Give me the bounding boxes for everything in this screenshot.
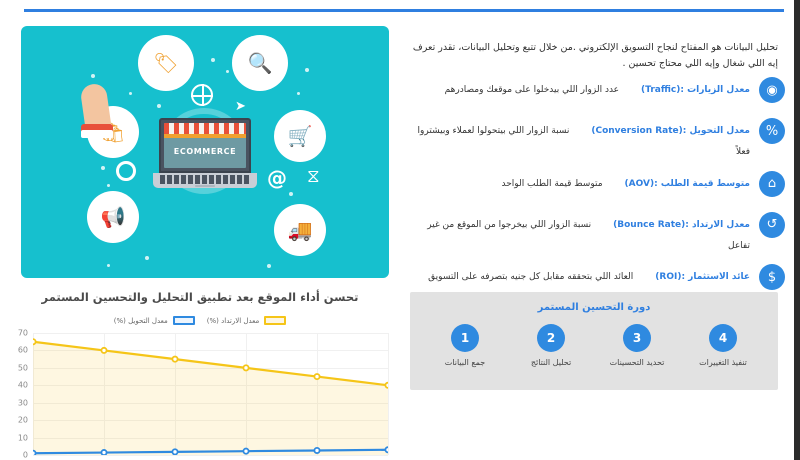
decorative-dot: [305, 68, 309, 72]
chart-data-point: [243, 365, 248, 370]
legend-label-conversion: معدل التحويل (%): [114, 317, 168, 325]
cycle-step-number: 3: [623, 324, 651, 352]
percent-icon: %: [759, 118, 785, 144]
shopping-cart-icon: 🛒: [274, 110, 326, 162]
chart-plot-area: 010203040506070 خمسات: [33, 333, 388, 455]
metric-row: %معدل التحويل :(Conversion Rate)نسبة الز…: [409, 117, 785, 161]
decorative-dot: [211, 58, 215, 62]
chart-title: تحسن أداء الموقع بعد تطبيق التحليل والتح…: [0, 290, 400, 304]
metric-row: ↺معدل الارتداد :(Bounce Rate)نسبة الزوار…: [409, 211, 785, 255]
cycle-step-number: 2: [537, 324, 565, 352]
decorative-dot: [297, 92, 300, 95]
dollar-icon: $: [759, 264, 785, 290]
performance-chart-card: تحسن أداء الموقع بعد تطبيق التحليل والتح…: [0, 285, 400, 460]
delivery-truck-icon: 🚚: [274, 204, 326, 256]
metric-body: معدل الارتداد :(Bounce Rate)نسبة الزوار …: [409, 211, 750, 255]
laptop-trackpad: [195, 185, 215, 187]
cycle-step[interactable]: 1جمع البيانات: [425, 324, 505, 367]
cycle-step[interactable]: 2تحليل النتائج: [511, 324, 591, 367]
undo-arrow-icon: ↺: [759, 212, 785, 238]
price-tags-icon: 🏷: [138, 35, 194, 91]
chart-y-tick-label: 70: [18, 329, 28, 338]
chart-y-tick-label: 30: [18, 398, 28, 407]
chart-data-point: [385, 447, 388, 452]
cycle-step-label: تحليل النتائج: [531, 358, 571, 367]
metric-body: معدل التحويل :(Conversion Rate)نسبة الزو…: [409, 117, 750, 161]
right-column: تحليل البيانات هو المفتاح لنجاح التسويق …: [405, 0, 785, 460]
chart-y-tick-label: 50: [18, 363, 28, 372]
page-root: 🏷 🔍 🛍 🛒 📢 🚚 @: [0, 0, 800, 460]
legend-item-bounce[interactable]: معدل الارتداد (%): [207, 316, 286, 325]
at-symbol-icon: @: [267, 166, 287, 190]
chart-area-fill: [33, 342, 388, 455]
chart-data-point: [172, 449, 177, 454]
metric-title: متوسط قيمة الطلب :(AOV): [625, 179, 750, 189]
shop-awning-bar: [164, 134, 246, 138]
laptop-keyboard: [160, 175, 250, 184]
left-column: 🏷 🔍 🛍 🛒 📢 🚚 @: [0, 0, 400, 460]
chart-legend: معدل الارتداد (%) معدل التحويل (%): [0, 316, 400, 325]
eye-icon: ◉: [759, 77, 785, 103]
cycle-step[interactable]: 4تنفيذ التغييرات: [683, 324, 763, 367]
legend-item-conversion[interactable]: معدل التحويل (%): [114, 316, 195, 325]
decorative-dot: [145, 256, 149, 260]
chart-data-point: [101, 450, 106, 455]
decorative-dot: [129, 92, 132, 95]
chart-data-point: [314, 374, 319, 379]
ecommerce-illustration: 🏷 🔍 🛍 🛒 📢 🚚 @: [21, 26, 389, 278]
metric-title: عائد الاستثمار :(ROI): [655, 272, 750, 282]
chart-data-point: [243, 449, 248, 454]
metric-body: معدل الزيارات :(Traffic)عدد الزوار اللي …: [409, 76, 750, 98]
metric-body: متوسط قيمة الطلب :(AOV)متوسط قيمة الطلب …: [409, 170, 750, 192]
metric-description: العائد اللي بتحققه مقابل كل جنيه بتصرفه …: [428, 272, 633, 282]
decorative-dot: [289, 192, 293, 196]
cycle-step-number: 1: [451, 324, 479, 352]
cycle-step-label: تنفيذ التغييرات: [699, 358, 747, 367]
cycle-step[interactable]: 3تحديد التحسينات: [597, 324, 677, 367]
chart-svg: [33, 333, 388, 455]
decorative-dot: [267, 264, 271, 268]
decorative-dot: [107, 264, 110, 267]
cycle-step-number: 4: [709, 324, 737, 352]
globe-icon: [191, 84, 213, 106]
intro-paragraph: تحليل البيانات هو المفتاح لنجاح التسويق …: [410, 40, 778, 73]
chart-y-tick-label: 10: [18, 433, 28, 442]
improvement-cycle-steps: 1جمع البيانات2تحليل النتائج3تحديد التحسي…: [422, 324, 766, 367]
chart-data-point: [385, 383, 388, 388]
chart-y-tick-label: 0: [23, 451, 28, 460]
improvement-cycle-card: دورة التحسين المستمر 1جمع البيانات2تحليل…: [410, 292, 778, 390]
laptop-screen: ECOMMERCE: [159, 118, 251, 173]
decorative-dot: [226, 70, 229, 73]
shopping-cart-icon: ⌂: [759, 171, 785, 197]
legend-swatch-conversion: [173, 316, 195, 325]
chart-data-point: [33, 451, 36, 455]
decorative-dot: [107, 184, 110, 187]
chart-y-tick-label: 60: [18, 346, 28, 355]
chart-gridline: [33, 455, 388, 456]
metric-row: $عائد الاستثمار :(ROI)العائد اللي بتحققه…: [409, 263, 785, 295]
decorative-dot: [157, 104, 161, 108]
chart-data-point: [33, 339, 36, 344]
shop-awning: [164, 123, 246, 134]
sleeve-cuff-white: [81, 130, 113, 138]
metric-title: معدل التحويل :(Conversion Rate): [591, 126, 750, 136]
metric-row: ◉معدل الزيارات :(Traffic)عدد الزوار اللي…: [409, 76, 785, 108]
chart-data-point: [172, 357, 177, 362]
page-right-edge-inner: [792, 0, 794, 460]
chart-vertical-gridline: [388, 333, 389, 455]
page-right-edge: [794, 0, 800, 460]
metrics-list: ◉معدل الزيارات :(Traffic)عدد الزوار اللي…: [409, 76, 785, 304]
chart-data-point: [314, 448, 319, 453]
metric-description: متوسط قيمة الطلب الواحد: [502, 179, 603, 189]
metric-body: عائد الاستثمار :(ROI)العائد اللي بتحققه …: [409, 263, 750, 285]
cursor-arrow-icon: ➤: [235, 99, 246, 114]
browser-search-icon: 🔍: [232, 35, 288, 91]
chart-data-point: [101, 348, 106, 353]
laptop-illustration: ECOMMERCE: [153, 118, 257, 188]
chart-y-tick-label: 40: [18, 381, 28, 390]
legend-label-bounce: معدل الارتداد (%): [207, 317, 259, 325]
decorative-dot: [101, 166, 105, 170]
chart-y-tick-label: 20: [18, 416, 28, 425]
metric-row: ⌂متوسط قيمة الطلب :(AOV)متوسط قيمة الطلب…: [409, 170, 785, 202]
wifi-icon: ⧖: [307, 166, 320, 187]
metric-title: معدل الزيارات :(Traffic): [641, 85, 750, 95]
megaphone-icon: 📢: [87, 191, 139, 243]
cycle-step-label: تحديد التحسينات: [610, 358, 665, 367]
metric-description: عدد الزوار اللي بيدخلوا على موقعك ومصادر…: [445, 85, 619, 95]
legend-swatch-bounce: [264, 316, 286, 325]
decorative-dot: [91, 74, 95, 78]
metric-title: معدل الارتداد :(Bounce Rate): [613, 220, 750, 230]
improvement-cycle-title: دورة التحسين المستمر: [410, 302, 778, 313]
ecommerce-screen-label: ECOMMERCE: [164, 147, 246, 156]
gear-icon: [116, 161, 136, 181]
cycle-step-label: جمع البيانات: [445, 358, 486, 367]
